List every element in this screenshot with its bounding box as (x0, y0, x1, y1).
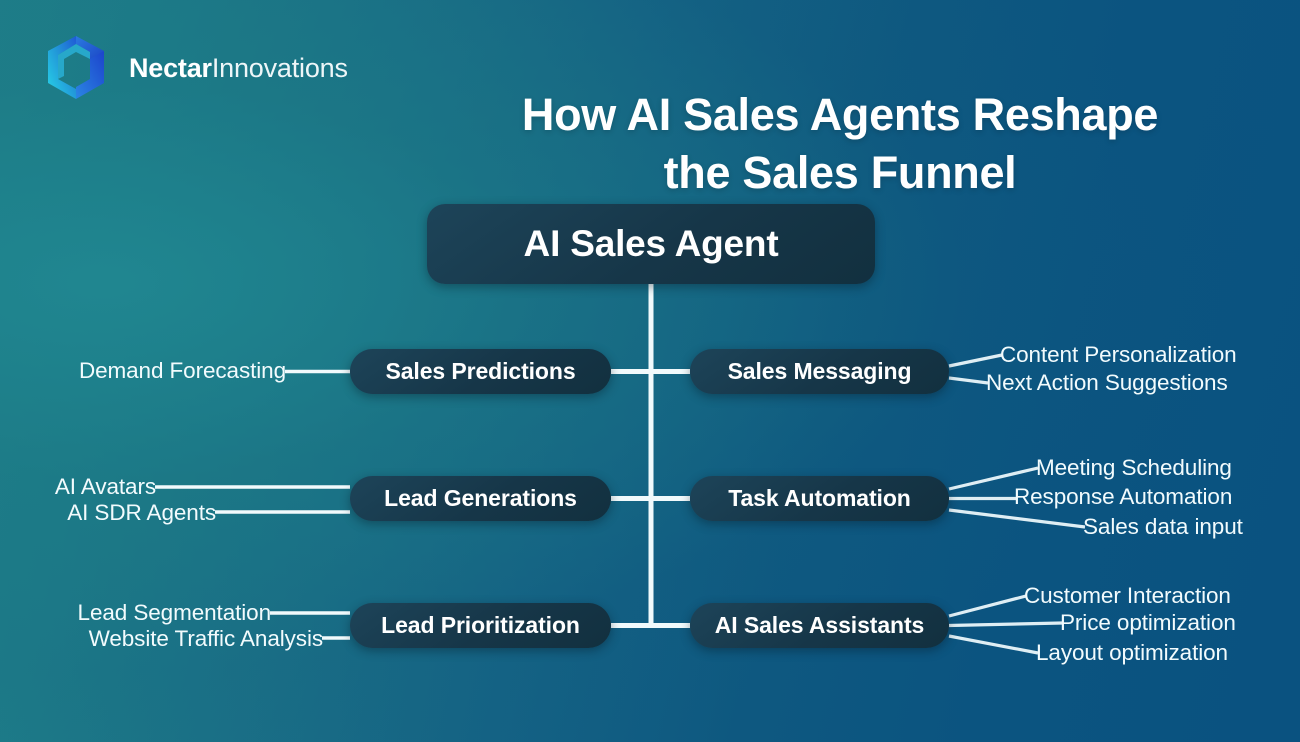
leaf-layout-optimization: Layout optimization (1036, 642, 1228, 665)
node-ai-sales-agent-label: AI Sales Agent (524, 223, 779, 265)
node-sales-predictions-label: Sales Predictions (385, 358, 575, 385)
leaf-line-price-optimization (949, 623, 1062, 626)
leaf-next-action-suggestions: Next Action Suggestions (986, 372, 1228, 395)
leaf-meeting-scheduling: Meeting Scheduling (1036, 457, 1232, 480)
node-sales-messaging[interactable]: Sales Messaging (690, 349, 949, 394)
page-title-line-2: the Sales Funnel (380, 144, 1300, 202)
node-lead-prioritization-label: Lead Prioritization (381, 612, 580, 639)
leaf-line-customer-interaction (949, 596, 1026, 616)
leaf-line-next-action-suggestions (949, 378, 988, 383)
leaf-line-layout-optimization (949, 636, 1038, 653)
leaf-line-sales-data-input (949, 510, 1085, 527)
leaf-price-optimization: Price optimization (1060, 612, 1236, 635)
leaf-content-personalization: Content Personalization (1000, 344, 1237, 367)
node-sales-messaging-label: Sales Messaging (728, 358, 912, 385)
hexagon-swirl-logo-icon (36, 31, 116, 106)
node-lead-generations[interactable]: Lead Generations (350, 476, 611, 521)
leaf-response-automation: Response Automation (1014, 486, 1232, 509)
page-title: How AI Sales Agents Reshape the Sales Fu… (380, 86, 1300, 201)
leaf-sales-data-input: Sales data input (1083, 516, 1243, 539)
node-task-automation-label: Task Automation (728, 485, 911, 512)
leaf-ai-sdr-agents: AI SDR Agents (67, 502, 216, 525)
leaf-ai-avatars: AI Avatars (55, 476, 156, 499)
leaf-line-content-personalization (949, 355, 1002, 366)
node-sales-predictions[interactable]: Sales Predictions (350, 349, 611, 394)
brand-logo: NectarInnovations (36, 31, 348, 106)
node-lead-prioritization[interactable]: Lead Prioritization (350, 603, 611, 648)
leaf-website-traffic-analysis: Website Traffic Analysis (89, 628, 323, 651)
brand-name-bold: Nectar (129, 53, 212, 83)
node-ai-sales-assistants[interactable]: AI Sales Assistants (690, 603, 949, 648)
node-task-automation[interactable]: Task Automation (690, 476, 949, 521)
brand-name-light: Innovations (212, 53, 348, 83)
node-lead-generations-label: Lead Generations (384, 485, 577, 512)
leaf-demand-forecasting: Demand Forecasting (79, 360, 286, 383)
leaf-lead-segmentation: Lead Segmentation (78, 602, 271, 625)
page-title-line-1: How AI Sales Agents Reshape (380, 86, 1300, 144)
brand-name: NectarInnovations (129, 53, 348, 84)
node-ai-sales-assistants-label: AI Sales Assistants (715, 612, 924, 639)
infographic-canvas: NectarInnovations How AI Sales Agents Re… (0, 0, 1300, 742)
node-ai-sales-agent[interactable]: AI Sales Agent (427, 204, 875, 284)
leaf-customer-interaction: Customer Interaction (1024, 585, 1231, 608)
